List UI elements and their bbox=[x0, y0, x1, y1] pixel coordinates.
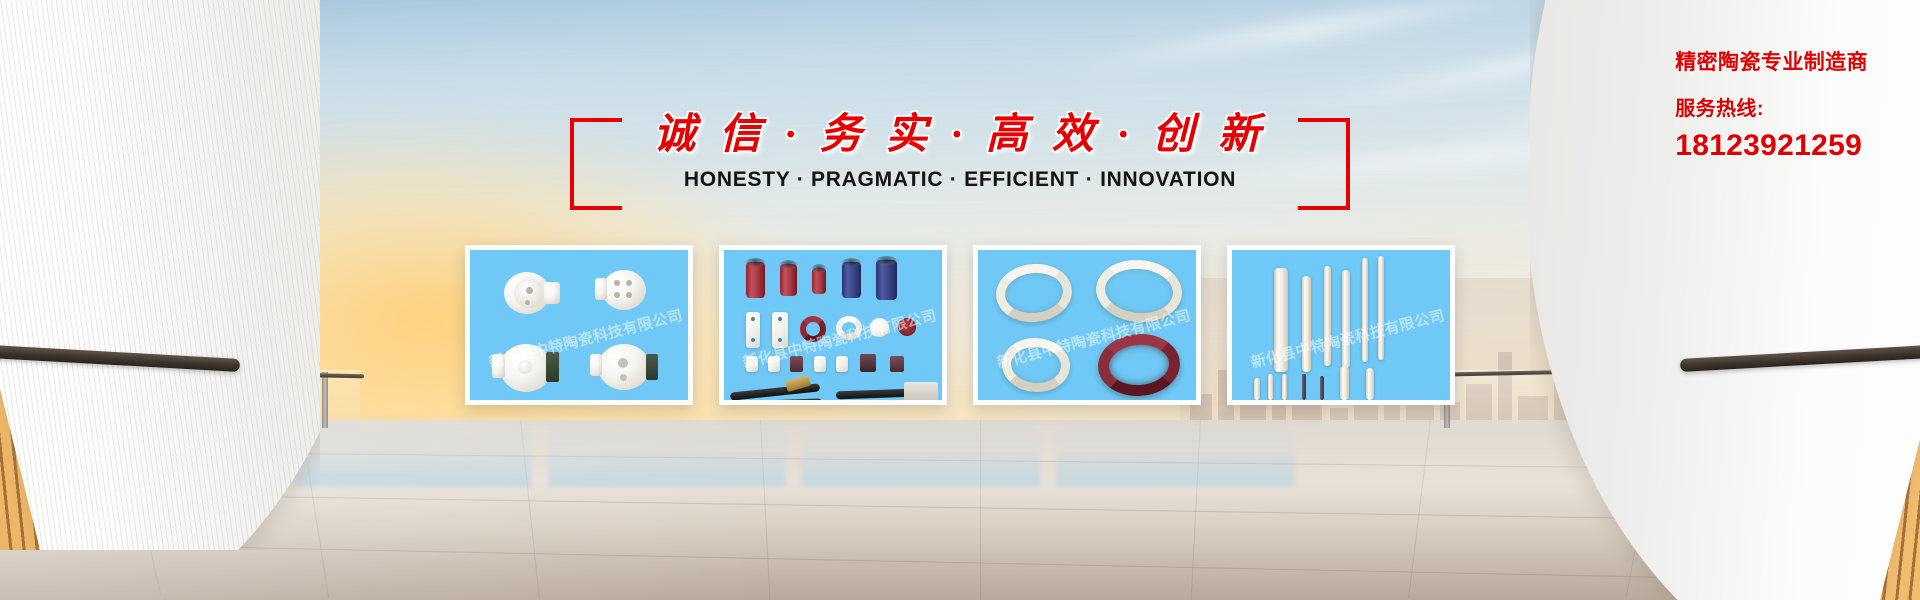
ceramic-tube-red bbox=[746, 262, 765, 298]
ceramic-rod-short bbox=[1254, 378, 1260, 400]
company-tagline: 精密陶瓷专业制造商 bbox=[1675, 46, 1868, 76]
ceramic-rod-dark bbox=[1302, 374, 1306, 400]
wire-lead bbox=[836, 389, 914, 400]
product-panel-ceramic-rods[interactable]: 新化县中特陶瓷科技有限公司 bbox=[1227, 245, 1455, 405]
slogan-chinese: 诚 信 · 务 实 · 高 效 · 创 新 bbox=[570, 100, 1350, 161]
ceramic-rod-short bbox=[1366, 368, 1374, 400]
ceramic-plate bbox=[772, 312, 788, 348]
ceramic-rod-short bbox=[1268, 374, 1273, 400]
socket-hole bbox=[626, 292, 632, 298]
wire-connector bbox=[904, 382, 938, 402]
panel-reflection bbox=[1056, 412, 1294, 486]
ceramic-rod-short bbox=[1282, 374, 1287, 400]
ceramic-disc bbox=[870, 318, 889, 337]
ceramic-block bbox=[768, 356, 780, 372]
ceramic-block-dark bbox=[890, 356, 904, 372]
ceramic-rod-thin bbox=[1362, 258, 1368, 362]
socket-contact-pin bbox=[646, 354, 658, 380]
socket-hole bbox=[626, 280, 632, 286]
socket-hole bbox=[620, 374, 627, 381]
ceramic-block bbox=[814, 356, 826, 372]
socket-tab bbox=[595, 278, 607, 300]
ceramic-rod-thin bbox=[1378, 256, 1384, 360]
ceramic-plate bbox=[746, 312, 760, 348]
ceramic-ring-red-large bbox=[1096, 331, 1182, 399]
slogan-english: HONESTY · PRAGMATIC · EFFICIENT · INNOVA… bbox=[570, 168, 1350, 192]
ceramic-rod bbox=[1324, 266, 1331, 366]
ceramic-ring-red bbox=[800, 316, 826, 342]
wire-lead bbox=[730, 398, 822, 405]
socket-hole bbox=[614, 292, 620, 298]
socket-hole bbox=[614, 280, 620, 286]
product-gallery: 新化县中特陶瓷科技有限公司 bbox=[465, 245, 1455, 405]
banner-stage: 诚 信 · 务 实 · 高 效 · 创 新 HONESTY · PRAGMATI… bbox=[0, 0, 1920, 600]
ceramic-rod-dark bbox=[1320, 376, 1324, 400]
ceramic-tube-red bbox=[812, 268, 826, 294]
socket-hole bbox=[525, 300, 530, 305]
slogan-block: 诚 信 · 务 实 · 高 效 · 创 新 HONESTY · PRAGMATI… bbox=[570, 92, 1350, 210]
bracket-bottom-right-icon bbox=[1298, 206, 1350, 210]
ceramic-rod bbox=[1302, 276, 1311, 372]
ceramic-socket bbox=[602, 270, 646, 310]
contact-block: 精密陶瓷专业制造商 服务热线: 18123921259 bbox=[1675, 46, 1868, 163]
architecture-canopy-left bbox=[0, 0, 320, 550]
panel-reflection bbox=[802, 412, 1040, 486]
ceramic-block-dark bbox=[860, 354, 876, 372]
ceramic-block-dark bbox=[790, 356, 803, 372]
product-panel-ceramic-sockets[interactable]: 新化县中特陶瓷科技有限公司 bbox=[465, 245, 693, 405]
socket-tab bbox=[590, 354, 602, 376]
product-panel-ceramic-tubes[interactable]: 新化县中特陶瓷科技有限公司 bbox=[719, 245, 947, 405]
socket-hole bbox=[526, 287, 533, 294]
panel-reflection bbox=[548, 412, 786, 486]
ceramic-ring-large bbox=[993, 260, 1075, 326]
socket-contact-pin bbox=[546, 352, 559, 382]
ceramic-block bbox=[836, 356, 848, 372]
product-panel-ceramic-rings[interactable]: 新化县中特陶瓷科技有限公司 bbox=[973, 245, 1201, 405]
ceramic-rod-thick bbox=[1274, 268, 1288, 372]
socket-center bbox=[518, 360, 532, 374]
socket-tab bbox=[492, 354, 505, 378]
ceramic-tube-blue bbox=[842, 262, 861, 298]
ceramic-tube-blue bbox=[876, 260, 897, 300]
curve-fine-lines-left bbox=[0, 0, 320, 550]
bracket-bottom-left-icon bbox=[570, 206, 622, 210]
socket-tab bbox=[544, 282, 560, 304]
ceramic-ring-large bbox=[1093, 256, 1184, 325]
ceramic-ring-white bbox=[836, 316, 862, 340]
ceramic-rod-short bbox=[1340, 366, 1349, 400]
socket-hole bbox=[618, 358, 628, 368]
ceramic-tube-red bbox=[780, 264, 797, 296]
ceramic-rod bbox=[1342, 270, 1350, 368]
ceramic-block bbox=[746, 356, 758, 372]
hotline-label: 服务热线: bbox=[1675, 92, 1868, 121]
hotline-number: 18123921259 bbox=[1675, 129, 1868, 163]
ceramic-disc-red bbox=[898, 318, 916, 336]
railing-post bbox=[322, 372, 328, 428]
ceramic-ring-medium bbox=[1000, 336, 1072, 395]
